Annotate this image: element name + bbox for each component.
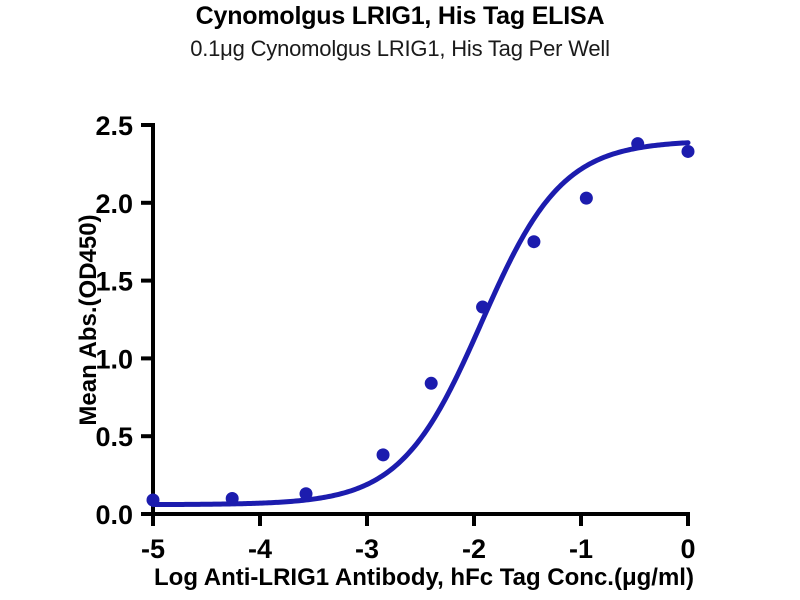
elisa-chart-figure: Cynomolgus LRIG1, His Tag ELISA 0.1μg Cy…: [0, 0, 800, 600]
data-point: [377, 448, 390, 461]
x-tick-label: -4: [248, 534, 272, 564]
data-point: [580, 192, 593, 205]
data-point: [425, 377, 438, 390]
x-axis-title: Log Anti-LRIG1 Antibody, hFc Tag Conc.(μ…: [154, 564, 694, 591]
y-tick-label: 2.0: [95, 189, 133, 219]
x-tick-label: -1: [569, 534, 593, 564]
y-tick-label: 2.5: [95, 111, 133, 141]
data-point: [147, 494, 160, 507]
data-point-markers: [147, 137, 695, 506]
x-axis-tick-labels: -5-4-3-2-10: [141, 534, 696, 564]
x-tick-label: -3: [355, 534, 379, 564]
data-point: [631, 137, 644, 150]
x-tick-label: -2: [462, 534, 486, 564]
data-point: [682, 145, 695, 158]
data-point: [527, 235, 540, 248]
y-axis-title: Mean Abs.(OD450): [75, 214, 102, 425]
y-tick-label: 0.0: [95, 500, 133, 530]
data-point: [226, 492, 239, 505]
x-tick-label: 0: [680, 534, 695, 564]
plot-area: 0.00.51.01.52.02.5 -5-4-3-2-10 Mean Abs.…: [0, 0, 800, 600]
y-tick-label: 0.5: [95, 422, 133, 452]
sigmoid-fit-curve: [153, 143, 688, 505]
data-point: [476, 301, 489, 314]
x-tick-label: -5: [141, 534, 165, 564]
data-point: [300, 487, 313, 500]
